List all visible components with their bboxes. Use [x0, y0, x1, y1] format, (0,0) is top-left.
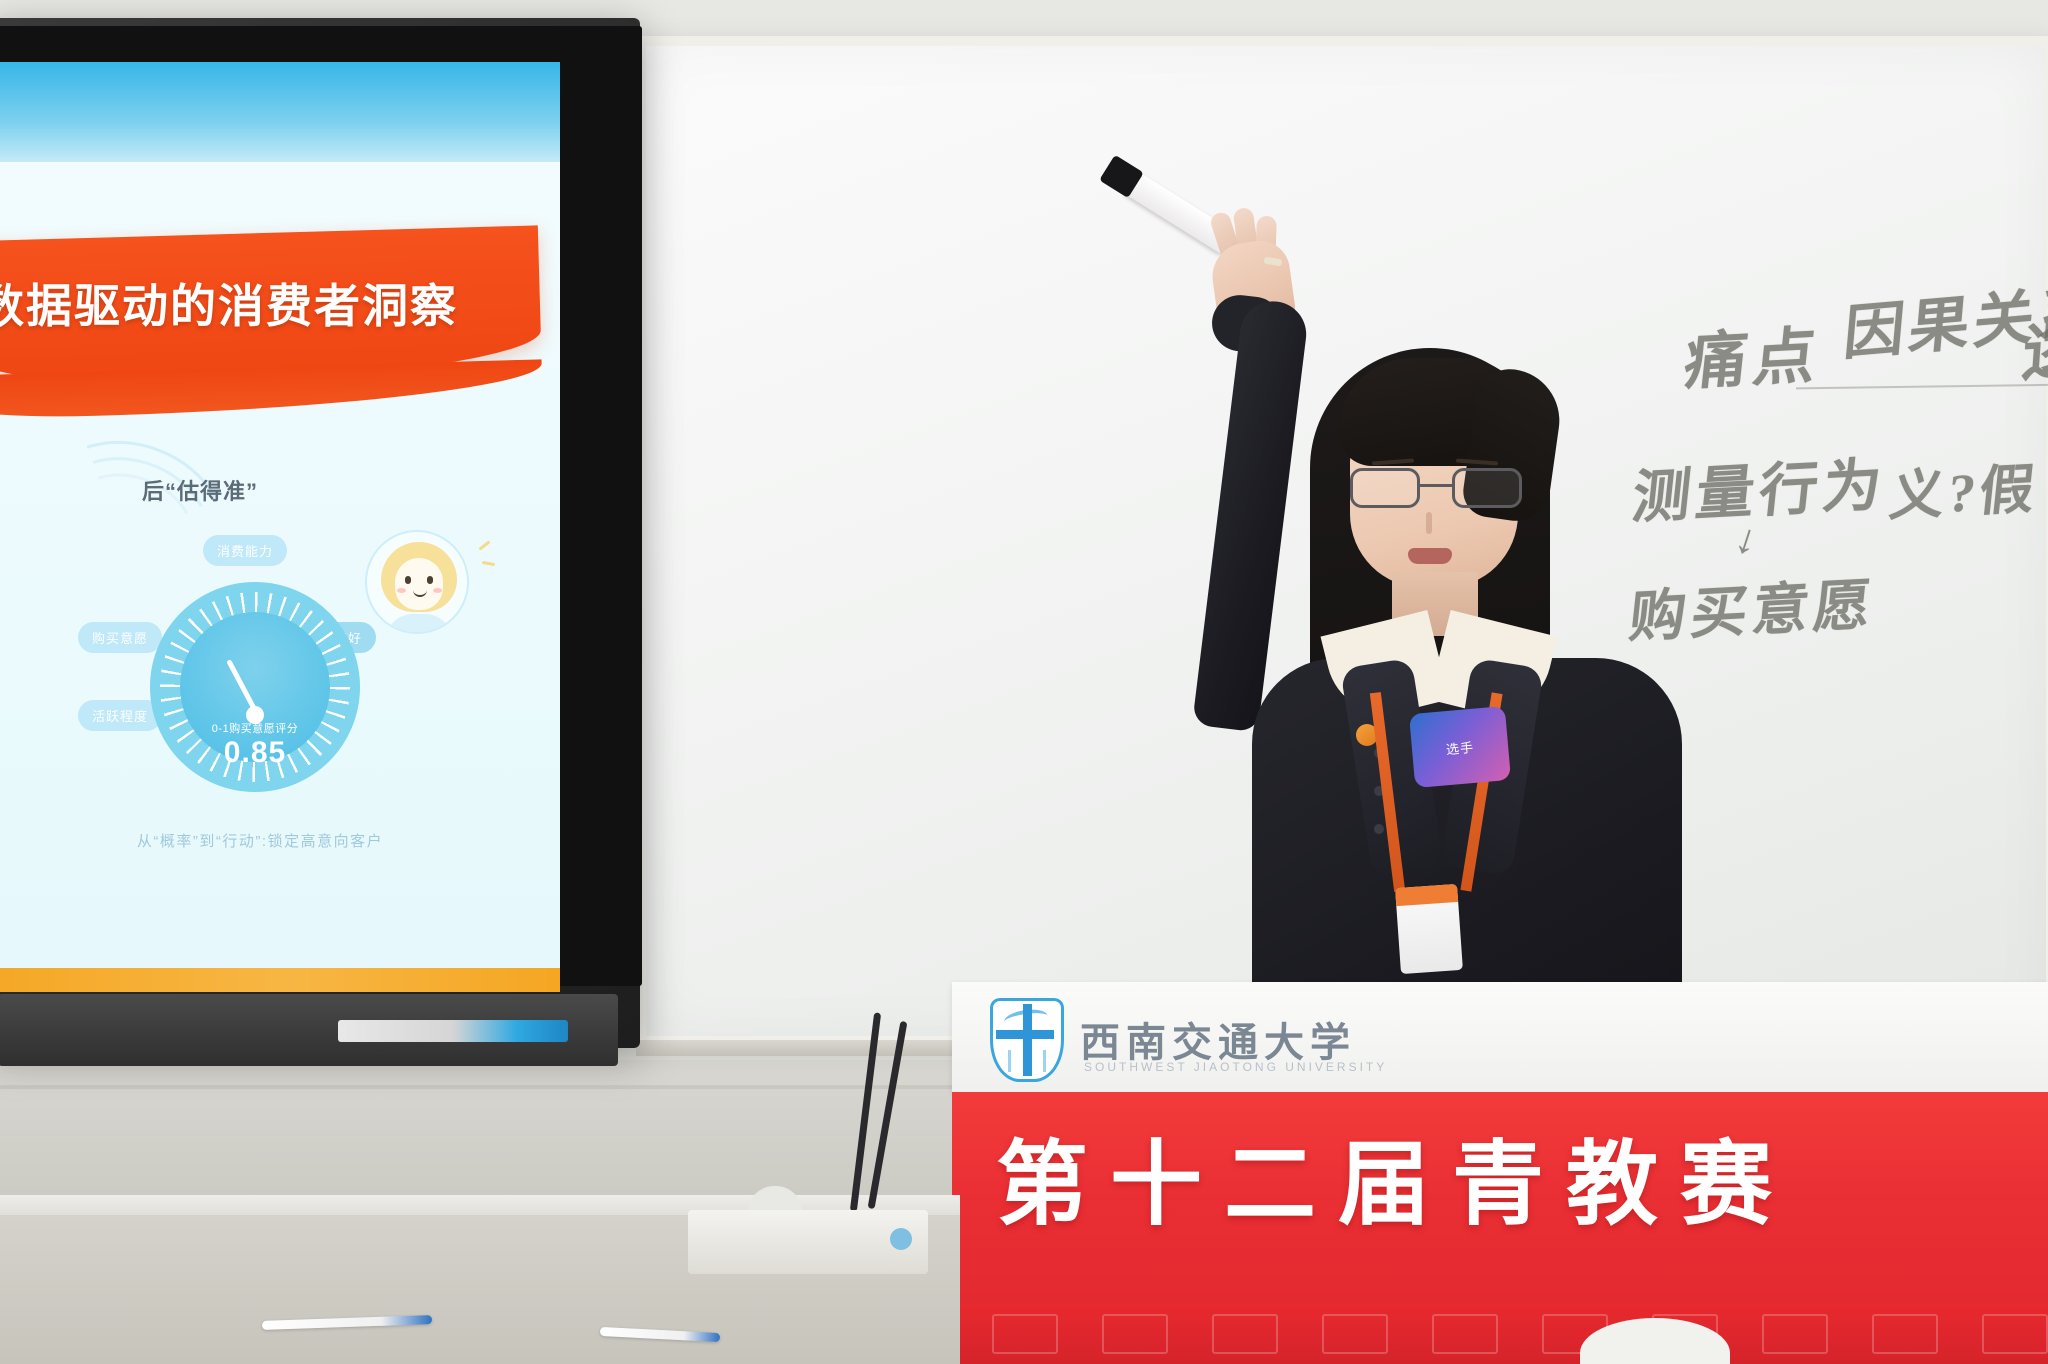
avatar-blush-right — [433, 588, 442, 593]
avatar-body — [385, 614, 453, 634]
id-card-header — [1395, 884, 1458, 906]
presentation-slide[interactable]: 数据驱动的消费者洞察 后“估得准” 消费能力 购买意愿 活跃程度 产品偏好 0-… — [0, 62, 560, 992]
deco-box-2 — [1102, 1314, 1168, 1354]
avatar — [365, 530, 469, 634]
deco-box-10 — [1982, 1314, 2048, 1354]
slide-caption: 从“概率”到“行动”:锁定高意向客户 — [0, 830, 560, 851]
equipment-button[interactable] — [890, 1228, 912, 1250]
slide-pill-1: 消费能力 — [203, 535, 287, 566]
deco-box-1 — [992, 1314, 1058, 1354]
university-name-en: SOUTHWEST JIAOTONG UNIVERSITY — [1084, 1060, 1387, 1074]
nose — [1426, 512, 1432, 534]
interactive-flat-panel[interactable]: 数据驱动的消费者洞察 后“估得准” 消费能力 购买意愿 活跃程度 产品偏好 0-… — [0, 18, 650, 1078]
deco-box-3 — [1212, 1314, 1278, 1354]
slide-sky-band — [0, 62, 560, 174]
avatar-eye-left — [405, 576, 411, 584]
glasses-bridge — [1420, 484, 1452, 487]
classroom-scene: 痛点 因果关系 逻辑回归 测量行为 义?假 购买意愿 ↓ 数据驱动的消费者洞察 … — [0, 0, 2048, 1364]
avatar-blush-left — [397, 588, 406, 593]
avatar-eye-right — [427, 576, 433, 584]
deco-box-9 — [1872, 1314, 1938, 1354]
banner-header: 西南交通大学 SOUTHWEST JIAOTONG UNIVERSITY — [952, 982, 2048, 1092]
deco-box-8 — [1762, 1314, 1828, 1354]
presenter-arm — [1192, 298, 1310, 733]
id-card — [1395, 884, 1463, 974]
glasses-icon — [1348, 468, 1524, 510]
glasses-lens-right — [1452, 468, 1522, 508]
gauge-caption: 0-1购买意愿评分 — [150, 720, 360, 736]
contestant-badge-label: 选手 — [1445, 736, 1475, 757]
slide-footer-bar — [0, 968, 560, 992]
jacket-button-3 — [1374, 824, 1384, 834]
gauge-value: 0.85 — [150, 736, 360, 770]
deco-box-5 — [1432, 1314, 1498, 1354]
mouth — [1408, 548, 1452, 564]
university-logo-icon — [990, 998, 1064, 1082]
banner-title: 第十二届青教赛 — [996, 1110, 2046, 1243]
glasses-lens-left — [1350, 468, 1420, 508]
contestant-badge: 选手 — [1409, 706, 1511, 788]
panel-chin — [0, 994, 618, 1066]
slide-title: 数据驱动的消费者洞察 — [0, 270, 538, 336]
banner-decorative-strip — [952, 1304, 2048, 1364]
event-banner: 西南交通大学 SOUTHWEST JIAOTONG UNIVERSITY 第十二… — [952, 982, 2048, 1364]
handwriting-line-5: 义?假 — [1886, 444, 2042, 531]
panel-brand-strip — [338, 1020, 568, 1042]
deco-box-4 — [1322, 1314, 1388, 1354]
handwriting-underline — [1796, 381, 2048, 390]
avatar-face — [395, 558, 443, 610]
shield-rail-mark — [1008, 1050, 1046, 1072]
slide-subquote: 后“估得准” — [142, 474, 258, 506]
handwriting-line-2: 因果关系 — [1841, 263, 2048, 372]
purchase-intent-gauge: 0-1购买意愿评分 0.85 — [150, 582, 360, 792]
